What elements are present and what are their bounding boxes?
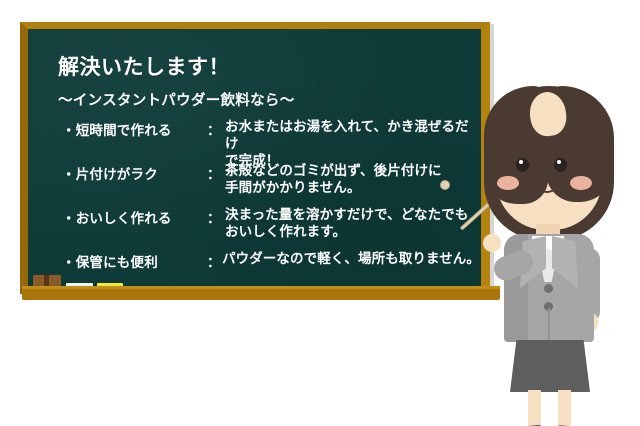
cheek-left [497,176,519,190]
list-item-description: パウダーなので軽く、場所も取りません。 [222,251,480,268]
jacket-button-top [544,284,553,293]
list-item: ・片付けがラク ： 茶殻などのゴミが出ず、後片付けに 手間がかかりません。 [52,163,482,205]
slide-canvas: 解決いたします！ 〜インスタントパウダー飲料なら〜 ・短時間で作れる ： お水ま… [0,0,640,426]
hand-left-holding-pointer [483,234,501,252]
list-item-colon: ： [207,207,221,227]
list-item-label: ・短時間で作れる [62,119,172,139]
subtitle: 〜インスタントパウダー飲料なら〜 [58,89,295,110]
list-item-description: 茶殻などのゴミが出ず、後片付けに 手間がかかりません。 [225,163,442,197]
list-item-label: ・保管にも便利 [62,251,158,271]
list-item-colon: ： [207,163,221,183]
list-item-colon: ： [207,119,221,139]
chalkboard-frame: 解決いたします！ 〜インスタントパウダー飲料なら〜 ・短時間で作れる ： お水ま… [20,22,490,294]
chalkboard-tray-highlight [22,286,500,289]
cheek-right [570,176,592,190]
page-title: 解決いたします！ [58,51,230,81]
benefit-list: ・短時間で作れる ： お水またはお湯を入れて、かき混ぜるだけ で完成！ ・片付け… [52,119,482,277]
pointer-stick-tip [440,180,450,190]
list-item-description: 決まった量を溶かすだけで、どなたでも おいしく作れます。 [225,207,468,241]
chalkboard-surface: 解決いたします！ 〜インスタントパウダー飲料なら〜 ・短時間で作れる ： お水ま… [28,29,481,294]
list-item: ・保管にも便利 ： パウダーなので軽く、場所も取りません。 [52,251,482,275]
list-item-label: ・片付けがラク [62,163,158,183]
list-item: ・短時間で作れる ： お水またはお湯を入れて、かき混ぜるだけ で完成！ [52,119,482,161]
eye-gleam-left [519,160,523,164]
list-item-label: ・おいしく作れる [62,207,172,227]
leg-right [558,390,571,426]
list-item: ・おいしく作れる ： 決まった量を溶かすだけで、どなたでも おいしく作れます。 [52,207,482,249]
list-item-colon: ： [207,251,221,271]
teacher-illustration [470,78,640,408]
skirt [510,340,590,392]
chalkboard-text-block: 解決いたします！ 〜インスタントパウダー飲料なら〜 ・短時間で作れる ： お水ま… [40,37,481,287]
jacket-seam [548,308,550,342]
leg-left [528,390,541,426]
eye-gleam-right [557,160,561,164]
